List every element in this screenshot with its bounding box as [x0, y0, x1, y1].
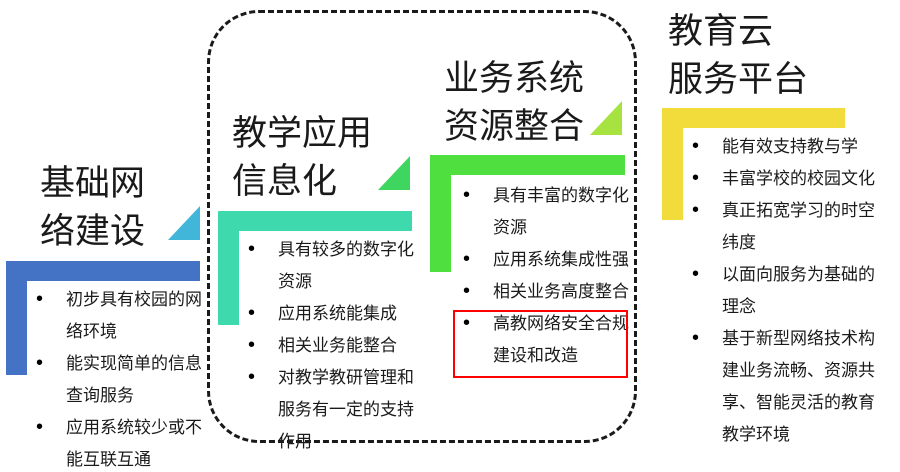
list-item-highlighted: 高教网络安全合规建设和改造	[457, 308, 629, 372]
list-item: 对教学教研管理和服务有一定的支持作用	[242, 362, 424, 458]
bracket-horizontal-bar	[662, 108, 845, 128]
bullet-list-education-cloud-platform: 能有效支持教与学 丰富学校的校园文化 真正拓宽学习的时空纬度 以面向服务为基础的…	[686, 131, 884, 451]
list-item: 相关业务高度整合	[457, 276, 629, 308]
bracket-vertical-bar	[6, 261, 27, 375]
list-item: 初步具有校园的网络环境	[30, 284, 205, 348]
list-item: 丰富学校的校园文化	[686, 163, 884, 195]
list-item: 基于新型网络技术构建业务流畅、资源共享、智能灵活的教育教学环境	[686, 323, 884, 451]
bullet-list-teaching-application: 具有较多的数字化资源 应用系统能集成 相关业务能整合 对教学教研管理和服务有一定…	[242, 234, 424, 458]
list-item: 应用系统较少或不能互联互通	[30, 412, 205, 472]
list-item: 能有效支持教与学	[686, 131, 884, 163]
bracket-vertical-bar	[430, 155, 451, 272]
list-item: 具有较多的数字化资源	[242, 234, 424, 298]
bracket-horizontal-bar	[218, 211, 412, 231]
arrow-triangle-business-system-integration	[590, 101, 622, 135]
diagram-canvas: 基础网 络建设 初步具有校园的网络环境 能实现简单的信息查询服务 应用系统较少或…	[0, 0, 900, 472]
list-item: 相关业务能整合	[242, 330, 424, 362]
column-title-education-cloud-platform: 教育云 服务平台	[668, 8, 858, 104]
list-item: 应用系统能集成	[242, 298, 424, 330]
list-item: 具有丰富的数字化资源	[457, 180, 629, 244]
list-item: 真正拓宽学习的时空纬度	[686, 195, 884, 259]
arrow-triangle-infrastructure	[168, 206, 200, 240]
list-item: 能实现简单的信息查询服务	[30, 348, 205, 412]
arrow-triangle-teaching-application	[378, 156, 410, 190]
list-item: 以面向服务为基础的理念	[686, 259, 884, 323]
bracket-vertical-bar	[662, 108, 683, 220]
bracket-vertical-bar	[218, 211, 239, 325]
bracket-horizontal-bar	[6, 261, 200, 281]
bracket-horizontal-bar	[430, 155, 625, 175]
bullet-list-business-system-integration: 具有丰富的数字化资源 应用系统集成性强 相关业务高度整合 高教网络安全合规建设和…	[457, 180, 629, 372]
list-item: 应用系统集成性强	[457, 244, 629, 276]
bullet-list-infrastructure: 初步具有校园的网络环境 能实现简单的信息查询服务 应用系统较少或不能互联互通	[30, 284, 205, 472]
